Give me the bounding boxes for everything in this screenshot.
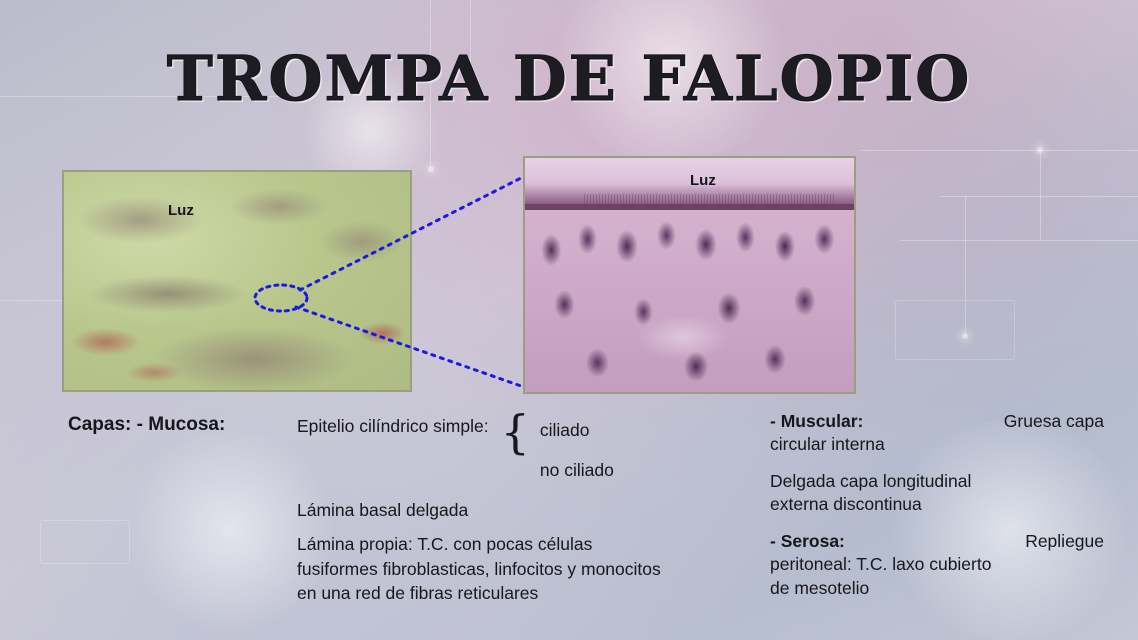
lamina-propia-line-3: en una red de fibras reticulares xyxy=(297,581,752,605)
slide-title: Trompa de Falopio xyxy=(0,42,1138,115)
lamina-propia-line-2: fusiformes fibroblasticas, linfocitos y … xyxy=(297,557,752,581)
serosa-text-line-2: peritoneal: T.C. laxo cubierto xyxy=(770,553,1104,576)
muscular-text-line-2: circular interna xyxy=(770,433,1104,456)
epitelio-label: Epitelio cilíndrico simple: xyxy=(297,414,489,438)
serosa-text-line-1: Repliegue xyxy=(1025,530,1104,553)
serosa-first-line: - Serosa: Repliegue xyxy=(770,530,1104,553)
lumen-label-high-power: Luz xyxy=(690,172,716,189)
layers-column: - Muscular: Gruesa capa circular interna… xyxy=(770,410,1104,600)
brace-item-ciliado: ciliado xyxy=(540,418,614,442)
lamina-basal-text: Lámina basal delgada xyxy=(297,498,752,522)
bg-node xyxy=(1037,147,1043,153)
nuclei-texture xyxy=(525,210,854,392)
tissue-texture xyxy=(64,172,410,390)
serosa-text-line-3: de mesotelio xyxy=(770,577,1104,600)
brace-item-no-ciliado: no ciliado xyxy=(540,458,614,482)
bg-circuit xyxy=(895,300,1015,360)
longitudinal-line-2: externa discontinua xyxy=(770,493,1104,516)
histology-high-power-image xyxy=(523,156,856,394)
brace-items: ciliado no ciliado xyxy=(540,414,614,482)
cilia-border xyxy=(584,194,834,204)
mucosa-details-column: Epitelio cilíndrico simple: { ciliado no… xyxy=(297,414,752,605)
capas-mucosa-label: Capas: - Mucosa: xyxy=(68,414,225,436)
brace-glyph: { xyxy=(501,410,530,454)
muscular-label: - Muscular: xyxy=(770,410,863,433)
bg-circuit xyxy=(40,520,130,564)
serosa-block: - Serosa: Repliegue peritoneal: T.C. lax… xyxy=(770,530,1104,599)
muscular-text-line-1: Gruesa capa xyxy=(1004,410,1104,433)
lumen-label-low-power: Luz xyxy=(168,202,194,219)
bg-node xyxy=(962,333,968,339)
bg-line xyxy=(900,240,1138,241)
bg-line xyxy=(0,300,70,301)
longitudinal-block: Delgada capa longitudinal externa discon… xyxy=(770,470,1104,516)
serosa-label: - Serosa: xyxy=(770,530,845,553)
bg-line xyxy=(1040,150,1041,240)
lamina-propia-line-1: Lámina propia: T.C. con pocas células xyxy=(297,532,752,556)
bg-line xyxy=(940,196,1138,197)
histology-low-power-image xyxy=(62,170,412,392)
slide-canvas: Trompa de Falopio Luz Luz Capas: - Mucos… xyxy=(0,0,1138,640)
epitelio-row: Epitelio cilíndrico simple: { ciliado no… xyxy=(297,414,752,482)
bg-line xyxy=(860,150,1138,151)
longitudinal-line-1: Delgada capa longitudinal xyxy=(770,470,1104,493)
muscular-first-line: - Muscular: Gruesa capa xyxy=(770,410,1104,433)
muscular-block: - Muscular: Gruesa capa circular interna xyxy=(770,410,1104,456)
